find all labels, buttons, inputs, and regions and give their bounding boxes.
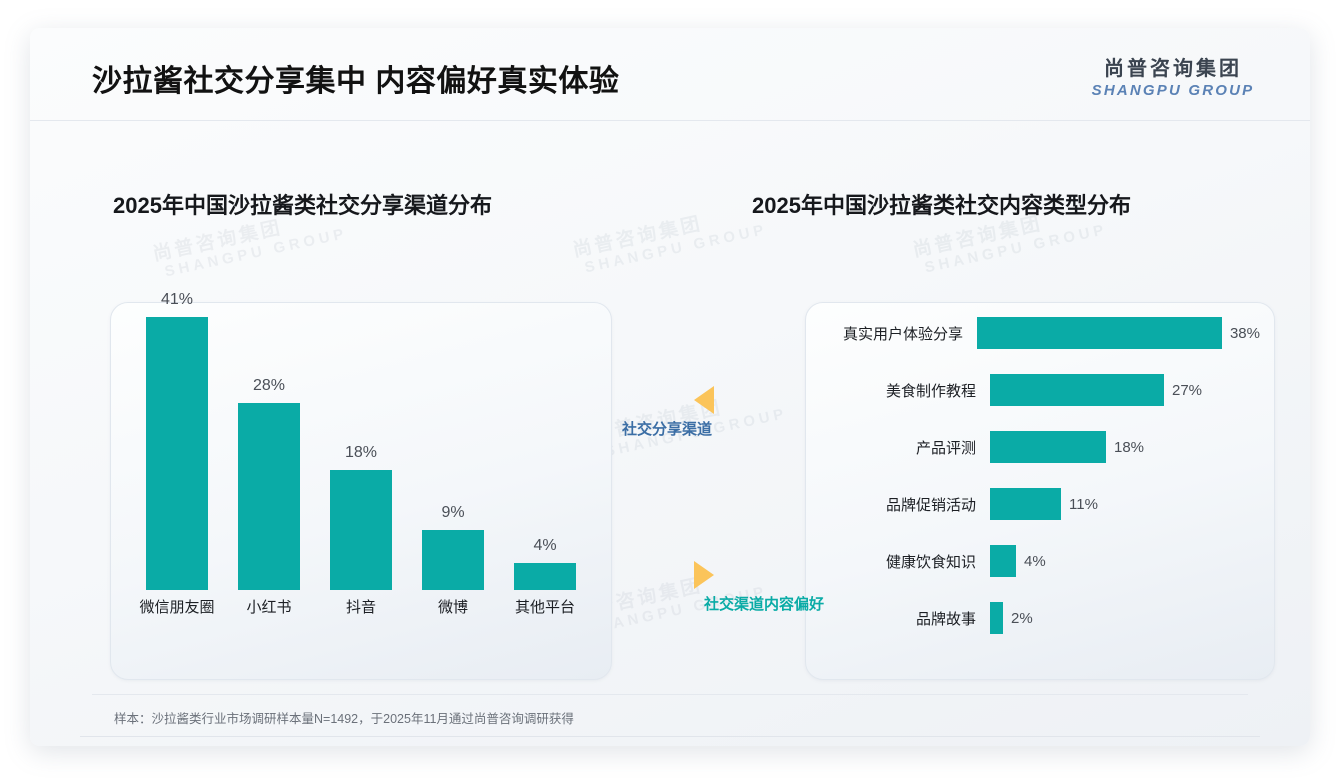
annotation-social-content-preference: 社交渠道内容偏好 [690, 561, 824, 614]
header-divider [30, 120, 1310, 121]
bar-category-label: 美食制作教程 [830, 380, 990, 401]
column-bar-group: 4% [514, 537, 576, 590]
bar-value-label: 27% [1172, 382, 1202, 399]
bar [977, 317, 1222, 349]
annotation-social-share-channel: 社交分享渠道 [622, 386, 714, 439]
column-bar [238, 403, 300, 590]
note-divider [92, 694, 1248, 695]
column-bar [146, 317, 208, 590]
column-plot-area: 41%28%18%9%4% [134, 290, 594, 590]
slide-header: 沙拉酱社交分享集中 内容偏好真实体验 尚普咨询集团 SHANGPU GROUP [30, 28, 1310, 120]
bar-category-label: 品牌故事 [830, 608, 990, 629]
annotation-label: 社交渠道内容偏好 [704, 593, 824, 614]
bar-row: 健康饮食知识4% [830, 544, 1260, 578]
bar-value-label: 4% [1024, 553, 1046, 570]
right-chart-title: 2025年中国沙拉酱类社交内容类型分布 [752, 188, 1131, 220]
bar-category-label: 健康饮食知识 [830, 551, 990, 572]
social-content-type-bar-chart: 真实用户体验分享38%美食制作教程27%产品评测18%品牌促销活动11%健康饮食… [830, 316, 1260, 646]
bar-track: 2% [990, 601, 1260, 635]
footer-divider [80, 736, 1260, 737]
sample-note: 样本：沙拉酱类行业市场调研样本量N=1492，于2025年11月通过尚普咨询调研… [114, 708, 574, 727]
bar [990, 602, 1003, 634]
bar-track: 11% [990, 487, 1260, 521]
bar-track: 18% [990, 430, 1260, 464]
page-title: 沙拉酱社交分享集中 内容偏好真实体验 [92, 56, 619, 100]
bar-value-label: 11% [1069, 496, 1098, 513]
bar [990, 374, 1164, 406]
triangle-right-icon [694, 561, 714, 589]
column-bar-group: 18% [330, 444, 392, 590]
bar-value-label: 2% [1011, 610, 1033, 627]
bar-value-label: 38% [1230, 325, 1260, 342]
bar [990, 488, 1061, 520]
triangle-left-icon [694, 386, 714, 414]
bar-row: 美食制作教程27% [830, 373, 1260, 407]
bar-track: 27% [990, 373, 1260, 407]
bar [990, 545, 1016, 577]
column-value-label: 18% [345, 444, 377, 462]
column-bar [514, 563, 576, 590]
bar-track: 38% [977, 316, 1260, 350]
brand-logo: 尚普咨询集团 SHANGPU GROUP [1078, 58, 1268, 101]
column-category-label: 微博 [403, 596, 503, 617]
bar-category-label: 品牌促销活动 [830, 494, 990, 515]
bar-row: 品牌故事2% [830, 601, 1260, 635]
column-category-label: 微信朋友圈 [127, 596, 227, 617]
left-chart-title: 2025年中国沙拉酱类社交分享渠道分布 [113, 188, 492, 220]
annotation-label: 社交分享渠道 [622, 418, 714, 439]
slide-canvas: 沙拉酱社交分享集中 内容偏好真实体验 尚普咨询集团 SHANGPU GROUP … [30, 28, 1310, 746]
column-value-label: 28% [253, 377, 285, 395]
social-share-channel-column-chart: 41%28%18%9%4% 微信朋友圈小红书抖音微博其他平台 [118, 290, 604, 642]
bar-category-label: 真实用户体验分享 [830, 323, 977, 344]
column-category-axis: 微信朋友圈小红书抖音微博其他平台 [134, 596, 594, 626]
bar-value-label: 18% [1114, 439, 1144, 456]
column-bar-group: 28% [238, 377, 300, 590]
bar-track: 4% [990, 544, 1260, 578]
watermark: 尚普咨询集团 SHANGPU GROUP [570, 196, 769, 278]
column-bar-group: 9% [422, 504, 484, 590]
bar-row: 产品评测18% [830, 430, 1260, 464]
logo-english-text: SHANGPU GROUP [1078, 81, 1268, 101]
column-bar-group: 41% [146, 291, 208, 590]
column-bar [422, 530, 484, 590]
column-value-label: 4% [533, 537, 556, 555]
column-value-label: 41% [161, 291, 193, 309]
bar [990, 431, 1106, 463]
bar-row: 品牌促销活动11% [830, 487, 1260, 521]
column-bar [330, 470, 392, 590]
bar-category-label: 产品评测 [830, 437, 990, 458]
column-category-label: 其他平台 [495, 596, 595, 617]
column-value-label: 9% [441, 504, 464, 522]
bar-row: 真实用户体验分享38% [830, 316, 1260, 350]
column-category-label: 小红书 [219, 596, 319, 617]
logo-chinese-text: 尚普咨询集团 [1078, 58, 1268, 81]
column-category-label: 抖音 [311, 596, 411, 617]
